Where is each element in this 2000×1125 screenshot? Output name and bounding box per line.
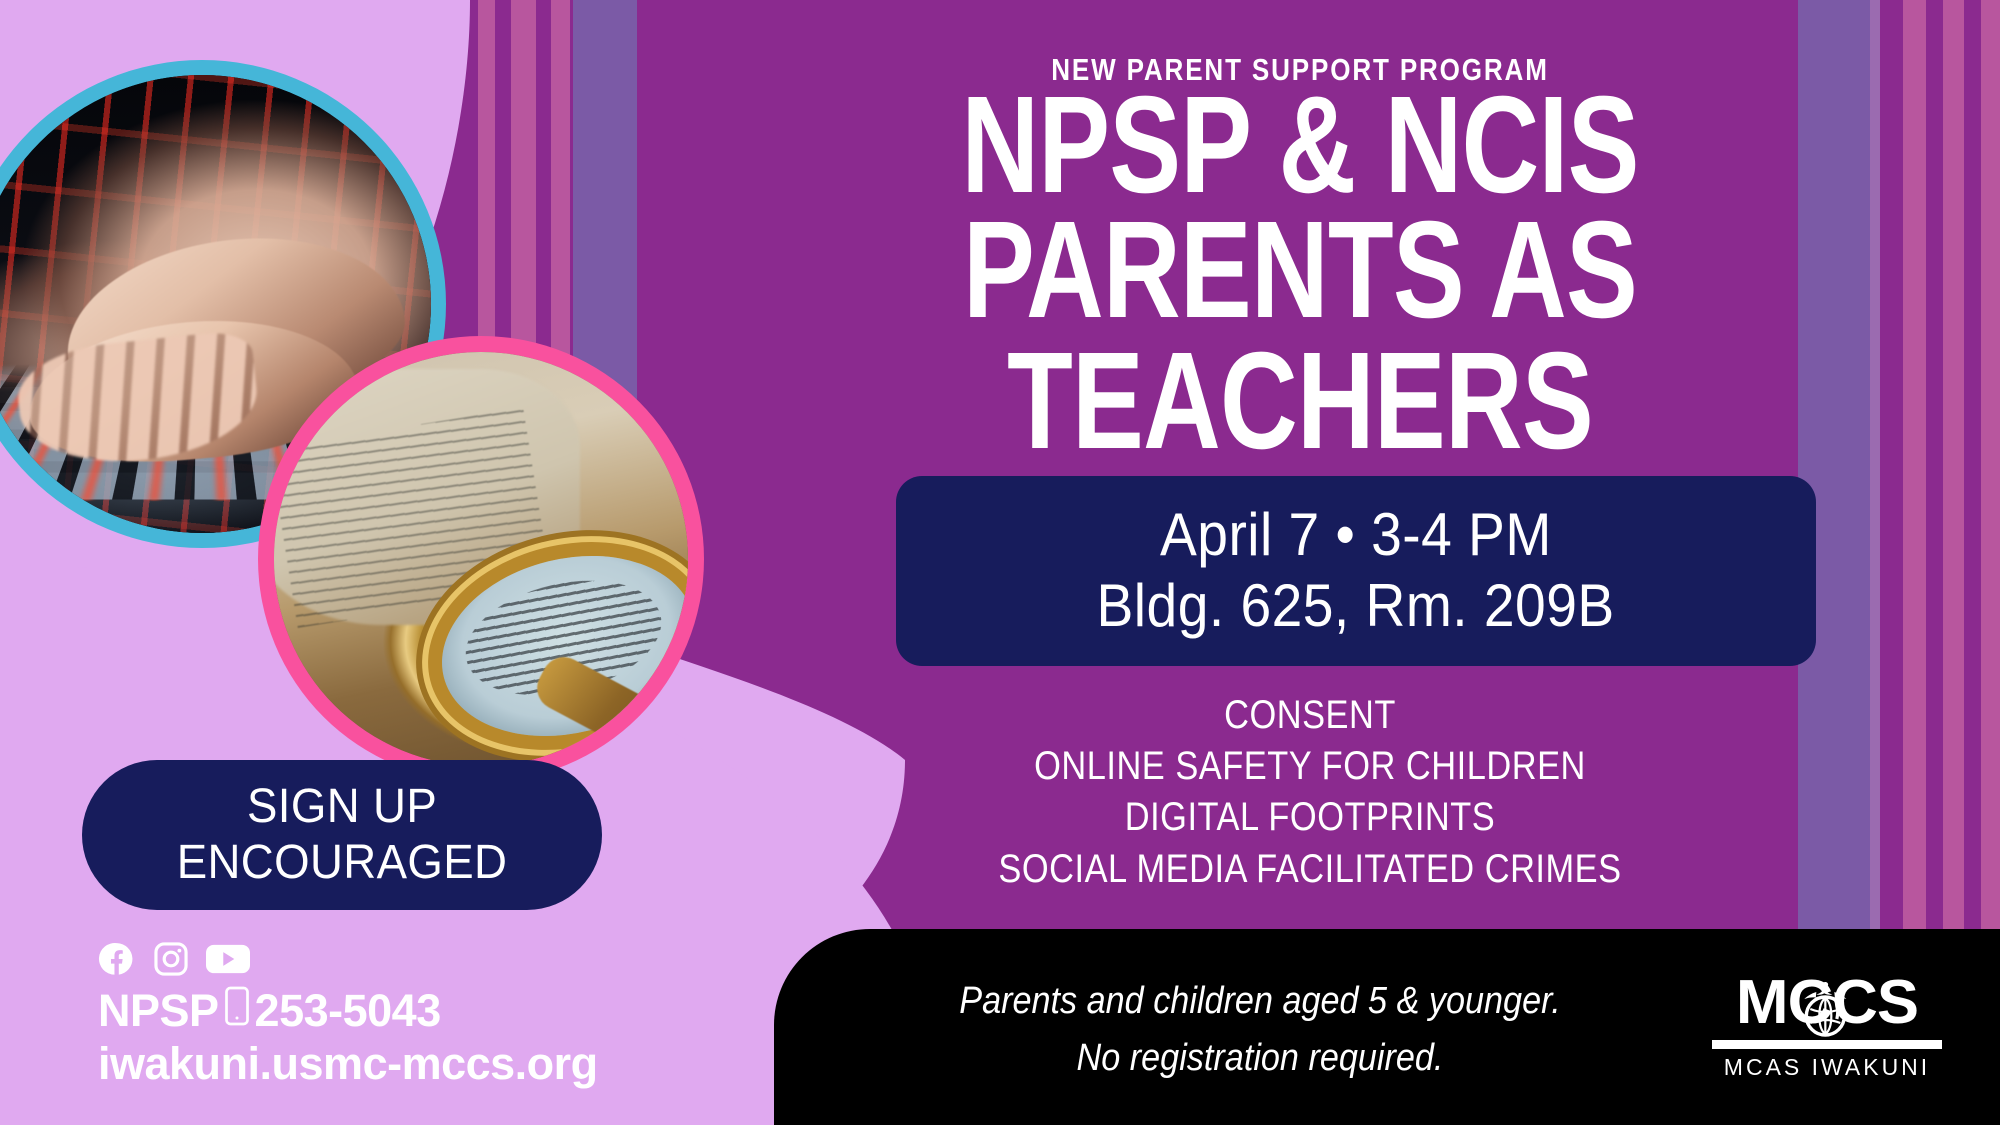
- phone-label: NPSP: [98, 986, 219, 1036]
- social-icon-row: [98, 940, 598, 978]
- footer-note-line-1: Parents and children aged 5 & younger.: [918, 973, 1602, 1030]
- facebook-icon[interactable]: [98, 940, 136, 978]
- website-link[interactable]: iwakuni.usmc-mccs.org: [98, 1038, 598, 1090]
- topic-item: SOCIAL MEDIA FACILITATED CRIMES: [837, 844, 1783, 895]
- sign-up-line-1: SIGN UP: [247, 779, 437, 835]
- sign-up-badge: SIGN UP ENCOURAGED: [82, 760, 602, 910]
- topic-list: CONSENT ONLINE SAFETY FOR CHILDREN DIGIT…: [760, 690, 1860, 895]
- event-date-time: April 7 • 3-4 PM: [1160, 500, 1552, 571]
- youtube-icon[interactable]: [206, 940, 250, 978]
- topic-item: ONLINE SAFETY FOR CHILDREN: [837, 741, 1783, 792]
- sign-up-line-2: ENCOURAGED: [177, 835, 508, 891]
- mccs-wordmark-row: MCCS: [1712, 970, 1942, 1036]
- mobile-phone-icon: [225, 986, 249, 1036]
- phone-number[interactable]: 253-5043: [255, 986, 441, 1036]
- footer-note: Parents and children aged 5 & younger. N…: [880, 973, 1640, 1087]
- book-photo: [274, 352, 688, 766]
- footer-note-line-2: No registration required.: [918, 1030, 1602, 1087]
- mccs-subtitle: MCAS IWAKUNI: [1712, 1054, 1942, 1081]
- topic-item: CONSENT: [837, 690, 1783, 741]
- flyer-canvas: NEW PARENT SUPPORT PROGRAM NPSP & NCIS P…: [0, 0, 2000, 1125]
- eagle-globe-anchor-icon: [1783, 964, 1867, 1044]
- mccs-logo: MCCS MCAS IWAKUNI: [1712, 970, 1942, 1081]
- contact-block: NPSP 253-5043 iwakuni.usmc-mccs.org: [98, 940, 598, 1089]
- topic-item: DIGITAL FOOTPRINTS: [837, 792, 1783, 843]
- instagram-icon[interactable]: [152, 940, 190, 978]
- phone-line: NPSP 253-5043: [98, 986, 598, 1036]
- title-line-2: PARENTS AS TEACHERS: [785, 205, 1815, 467]
- page-title: NPSP & NCIS PARENTS AS TEACHERS: [640, 80, 1960, 467]
- event-details-banner: April 7 • 3-4 PM Bldg. 625, Rm. 209B: [896, 476, 1816, 666]
- event-location: Bldg. 625, Rm. 209B: [1097, 571, 1615, 642]
- title-line-1: NPSP & NCIS: [785, 80, 1815, 211]
